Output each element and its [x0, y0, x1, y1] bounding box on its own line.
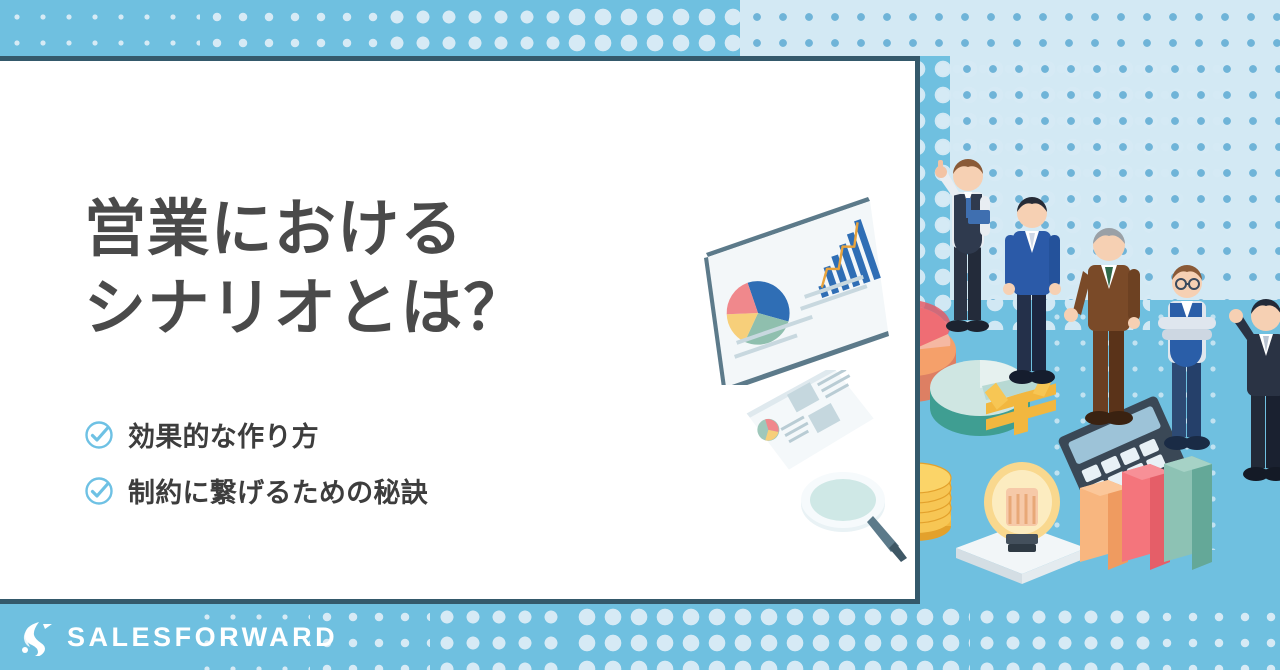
- presentation-board: [700, 145, 900, 385]
- top-blue-band: [0, 0, 1280, 56]
- brand-logo[interactable]: SALESFORWARD: [18, 618, 338, 656]
- check-circle-icon: [84, 476, 114, 506]
- page-title: 営業における シナリオとは？: [84, 190, 704, 349]
- list-item-label: 制約に繋げるための秘訣: [128, 471, 428, 510]
- feature-bullet-list: 効果的な作り方 制約に繋げるための秘訣: [84, 415, 428, 527]
- list-item: 制約に繋げるための秘訣: [84, 471, 428, 510]
- brand-name: SALESFORWARD: [67, 622, 338, 653]
- salesforward-s-mark-icon: [18, 618, 54, 656]
- poster-canvas: ¥ ¥: [0, 0, 1280, 670]
- person-dark-suit-waving: [1215, 290, 1280, 490]
- list-item-label: 効果的な作り方: [128, 415, 319, 454]
- magnifying-glass-icon: [795, 460, 915, 570]
- list-item: 効果的な作り方: [84, 415, 428, 454]
- check-circle-icon: [84, 420, 114, 450]
